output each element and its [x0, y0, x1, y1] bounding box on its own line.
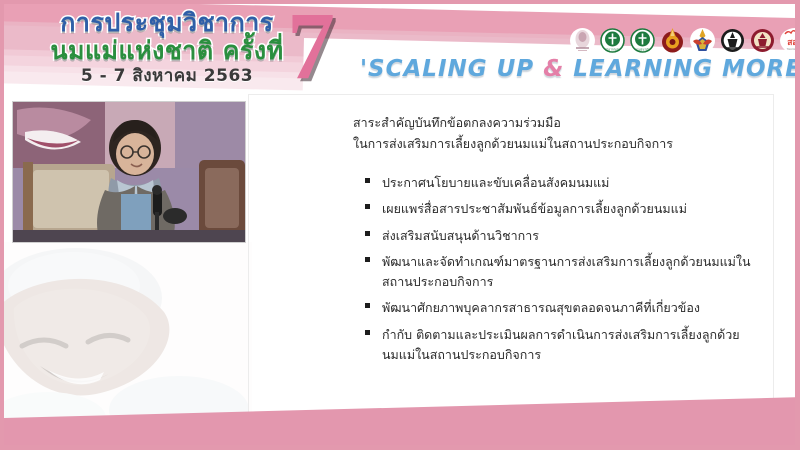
frame-border-left: [0, 0, 4, 450]
heading-line-2: ในการส่งเสริมการเลี้ยงลูกด้วยนมแม่ในสถาน…: [353, 134, 753, 155]
list-item-label: เผยแพร่สื่อสารประชาสัมพันธ์ข้อมูลการเลี้…: [382, 199, 755, 219]
list-item: พัฒนาศักยภาพบุคลากรสาธารณสุขตลอดจนภาคีที…: [365, 298, 755, 318]
frame-border-right: [795, 0, 800, 450]
speaker-video-insert[interactable]: [12, 101, 246, 243]
logo-royal-patronage-icon: [570, 28, 595, 53]
list-item: ส่งเสริมสนับสนุนด้านวิชาการ: [365, 226, 755, 246]
conference-title-block: การประชุมวิชาการ นมแม่แห่งชาติ ครั้งที่ …: [22, 6, 312, 85]
list-item: พัฒนาและจัดทำเกณฑ์มาตรฐานการส่งเสริมการเ…: [365, 252, 755, 293]
square-bullet-icon: [365, 231, 375, 236]
edition-number: 7: [287, 4, 335, 94]
heading-line-1: สาระสำคัญบันทึกข้อตกลงความร่วมมือ: [353, 113, 753, 134]
svg-text:กรมอนามัย: กรมอนามัย: [635, 48, 650, 52]
logo-ministry-public-health-2-icon: กรมอนามัย: [630, 28, 655, 53]
list-item-label: พัฒนาศักยภาพบุคลากรสาธารณสุขตลอดจนภาคีที…: [382, 298, 755, 318]
smiling-child-photo: [4, 242, 252, 432]
svg-text:สสส: สสส: [787, 37, 795, 47]
list-item-label: ส่งเสริมสนับสนุนด้านวิชาการ: [382, 226, 755, 246]
slide-page: การประชุมวิชาการ นมแม่แห่งชาติ ครั้งที่ …: [4, 4, 795, 445]
tagline-ampersand: &: [543, 56, 564, 82]
square-bullet-icon: [365, 204, 375, 209]
conference-dates: 5 - 7 สิงหาคม 2563: [22, 68, 312, 85]
list-item: เผยแพร่สื่อสารประชาสัมพันธ์ข้อมูลการเลี้…: [365, 199, 755, 219]
square-bullet-icon: [365, 330, 375, 335]
presentation-slide: การประชุมวิชาการ นมแม่แห่งชาติ ครั้งที่ …: [0, 0, 800, 450]
list-item: ประกาศนโยบายและขับเคลื่อนสังคมนมแม่: [365, 173, 755, 193]
list-item-label: ประกาศนโยบายและขับเคลื่อนสังคมนมแม่: [382, 173, 755, 193]
sponsor-logo-strip: สาธารณสุข กรมอนามัย สสสTHAI HEALTH: [570, 28, 795, 53]
frame-border-bottom: [0, 445, 800, 450]
bullet-list: ประกาศนโยบายและขับเคลื่อนสังคมนมแม่ เผยแ…: [365, 173, 755, 371]
logo-black-circle-emblem-icon: [720, 28, 745, 53]
content-heading: สาระสำคัญบันทึกข้อตกลงความร่วมมือ ในการส…: [353, 113, 753, 154]
svg-text:THAI HEALTH: THAI HEALTH: [787, 47, 795, 51]
conference-tagline: 'SCALING UP & LEARNING MORE': [360, 56, 795, 82]
square-bullet-icon: [365, 178, 375, 183]
tagline-part-1: 'SCALING UP: [360, 56, 543, 82]
square-bullet-icon: [365, 303, 375, 308]
logo-thaihealth-icon: สสสTHAI HEALTH: [780, 28, 795, 53]
logo-thai-emblem-red-icon: [660, 28, 685, 53]
title-line-1: การประชุมวิชาการ: [22, 10, 312, 35]
list-item: กำกับ ติดตามและประเมินผลการดำเนินการส่งเ…: [365, 325, 755, 366]
content-panel: สาระสำคัญบันทึกข้อตกลงความร่วมมือ ในการส…: [248, 94, 774, 426]
list-item-label: พัฒนาและจัดทำเกณฑ์มาตรฐานการส่งเสริมการเ…: [382, 252, 755, 293]
square-bullet-icon: [365, 257, 375, 262]
logo-garuda-emblem-icon: [690, 28, 715, 53]
title-line-2: นมแม่แห่งชาติ ครั้งที่: [22, 38, 312, 63]
logo-crest-maroon-icon: [750, 28, 775, 53]
frame-border-top: [0, 0, 800, 4]
logo-ministry-public-health-1-icon: สาธารณสุข: [600, 28, 625, 53]
tagline-part-2: LEARNING MORE': [564, 56, 795, 82]
list-item-label: กำกับ ติดตามและประเมินผลการดำเนินการส่งเ…: [382, 325, 755, 366]
